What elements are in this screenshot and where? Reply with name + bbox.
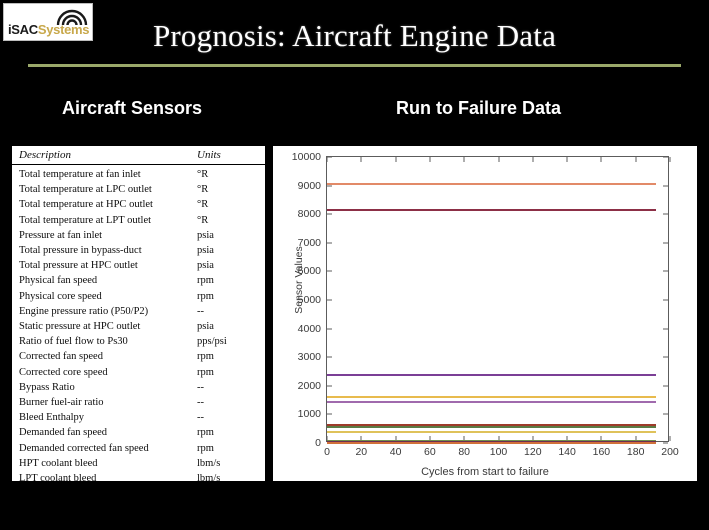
cell-description: Physical core speed [12,289,197,304]
cell-description: Pressure at fan inlet [12,228,197,243]
cell-units: °R [197,213,265,228]
cell-description: HPT coolant bleed [12,456,197,471]
cell-description: Total temperature at fan inlet [12,165,197,183]
table-row: Total pressure at HPC outletpsia [12,259,265,274]
cell-description: Burner fuel-air ratio [12,396,197,411]
table-row: Total pressure in bypass-ductpsia [12,244,265,259]
cell-units: -- [197,380,265,395]
cell-description: Demanded fan speed [12,426,197,441]
x-axis-tick-mark-top [429,157,430,162]
sensor-table: Description Units Total temperature at f… [12,146,265,482]
cell-units: rpm [197,365,265,380]
x-axis-tick-mark-top [464,157,465,162]
aircraft-sensors-heading: Aircraft Sensors [62,98,202,119]
x-axis-tick-mark-top [601,157,602,162]
y-axis-tick-mark [327,414,332,415]
table-row: Burner fuel-air ratio-- [12,396,265,411]
cell-units: psia [197,320,265,335]
cell-units: lbm/s [197,472,265,482]
x-axis-tick-mark-top [395,157,396,162]
chart-series-line [327,183,656,185]
y-axis-tick-label: 9000 [298,180,327,192]
cell-description: Total temperature at HPC outlet [12,198,197,213]
y-axis-tick-mark [327,185,332,186]
cell-units: pps/psi [197,335,265,350]
cell-description: Total temperature at LPT outlet [12,213,197,228]
cell-units: lbm/s [197,456,265,471]
chart-plot-area: 0100020003000400050006000700080009000100… [326,156,669,442]
chart-x-axis-label: Cycles from start to failure [273,466,697,478]
y-axis-tick-mark [327,385,332,386]
cell-units: -- [197,411,265,426]
cell-description: Engine pressure ratio (P50/P2) [12,304,197,319]
table-header-row: Description Units [12,146,265,165]
cell-units: rpm [197,426,265,441]
y-axis-tick-mark [327,271,332,272]
y-axis-tick-label: 3000 [298,351,327,363]
slide: iSACSystems Prognosis: Aircraft Engine D… [0,0,709,530]
sensor-table-body: Total temperature at fan inlet°RTotal te… [12,165,265,483]
y-axis-tick-mark-right [663,271,668,272]
chart-series-line [327,396,656,398]
column-header-description: Description [12,146,197,165]
y-axis-tick-mark-right [663,385,668,386]
table-row: Physical fan speedrpm [12,274,265,289]
cell-units: psia [197,244,265,259]
x-axis-tick-mark-top [670,157,671,162]
cell-units: rpm [197,289,265,304]
table-row: Total temperature at HPC outlet°R [12,198,265,213]
table-row: Corrected core speedrpm [12,365,265,380]
run-to-failure-chart-panel: Sensor Values 01000200030004000500060007… [272,145,698,482]
y-axis-tick-label: 5000 [298,294,327,306]
cell-units: °R [197,198,265,213]
table-row: Demanded corrected fan speedrpm [12,441,265,456]
cell-description: Corrected fan speed [12,350,197,365]
y-axis-tick-mark-right [663,214,668,215]
y-axis-tick-mark-right [663,185,668,186]
x-axis-tick-label: 200 [661,441,679,458]
cell-units: rpm [197,350,265,365]
chart-series-line [327,374,656,376]
y-axis-tick-mark [327,300,332,301]
x-axis-tick-mark-top [327,157,328,162]
table-row: Total temperature at LPC outlet°R [12,183,265,198]
y-axis-tick-label: 6000 [298,265,327,277]
x-axis-tick-mark-top [635,157,636,162]
cell-units: psia [197,259,265,274]
y-axis-tick-mark-right [663,300,668,301]
y-axis-tick-label: 8000 [298,208,327,220]
y-axis-tick-mark-right [663,157,668,158]
chart-series-line [327,209,656,211]
sensor-table-panel: Description Units Total temperature at f… [11,145,266,482]
x-axis-tick-mark-top [361,157,362,162]
chart-series-line [327,426,656,428]
cell-description: Physical fan speed [12,274,197,289]
cell-description: Ratio of fuel flow to Ps30 [12,335,197,350]
cell-units: °R [197,165,265,183]
y-axis-tick-mark [327,328,332,329]
table-row: Static pressure at HPC outletpsia [12,320,265,335]
cell-units: °R [197,183,265,198]
cell-description: Total temperature at LPC outlet [12,183,197,198]
page-title: Prognosis: Aircraft Engine Data [0,18,709,54]
title-divider [28,64,681,67]
y-axis-tick-mark [327,357,332,358]
table-row: Engine pressure ratio (P50/P2)-- [12,304,265,319]
y-axis-tick-label: 7000 [298,237,327,249]
y-axis-tick-mark-right [663,328,668,329]
cell-description: Total pressure at HPC outlet [12,259,197,274]
cell-description: Corrected core speed [12,365,197,380]
cell-units: -- [197,396,265,411]
plot-wrapper: Sensor Values 01000200030004000500060007… [273,146,697,481]
table-row: Demanded fan speedrpm [12,426,265,441]
y-axis-tick-mark-right [663,414,668,415]
cell-description: Demanded corrected fan speed [12,441,197,456]
y-axis-tick-mark [327,214,332,215]
table-row: LPT coolant bleedlbm/s [12,472,265,482]
table-row: Bleed Enthalpy-- [12,411,265,426]
column-header-units: Units [197,146,265,165]
cell-units: rpm [197,441,265,456]
cell-description: Total pressure in bypass-duct [12,244,197,259]
x-axis-tick-mark-top [532,157,533,162]
table-row: Bypass Ratio-- [12,380,265,395]
y-axis-tick-mark [327,242,332,243]
table-row: Pressure at fan inletpsia [12,228,265,243]
table-row: Ratio of fuel flow to Ps30pps/psi [12,335,265,350]
y-axis-tick-label: 2000 [298,380,327,392]
table-row: Corrected fan speedrpm [12,350,265,365]
chart-series-line [327,401,656,403]
cell-description: Bypass Ratio [12,380,197,395]
x-axis-tick-mark-top [567,157,568,162]
y-axis-tick-mark-right [663,242,668,243]
y-axis-tick-label: 4000 [298,323,327,335]
table-row: HPT coolant bleedlbm/s [12,456,265,471]
cell-description: LPT coolant bleed [12,472,197,482]
chart-series-line [327,431,656,433]
cell-description: Bleed Enthalpy [12,411,197,426]
cell-units: psia [197,228,265,243]
cell-units: -- [197,304,265,319]
x-axis-tick-mark [670,436,671,441]
cell-units: rpm [197,274,265,289]
y-axis-tick-label: 10000 [292,151,327,163]
table-row: Total temperature at LPT outlet°R [12,213,265,228]
y-axis-tick-label: 1000 [298,408,327,420]
x-axis-tick-mark-top [498,157,499,162]
y-axis-tick-mark [327,157,332,158]
table-row: Total temperature at fan inlet°R [12,165,265,183]
cell-description: Static pressure at HPC outlet [12,320,197,335]
run-to-failure-heading: Run to Failure Data [396,98,561,119]
y-axis-tick-mark-right [663,357,668,358]
table-row: Physical core speedrpm [12,289,265,304]
chart-series-line [327,442,656,444]
